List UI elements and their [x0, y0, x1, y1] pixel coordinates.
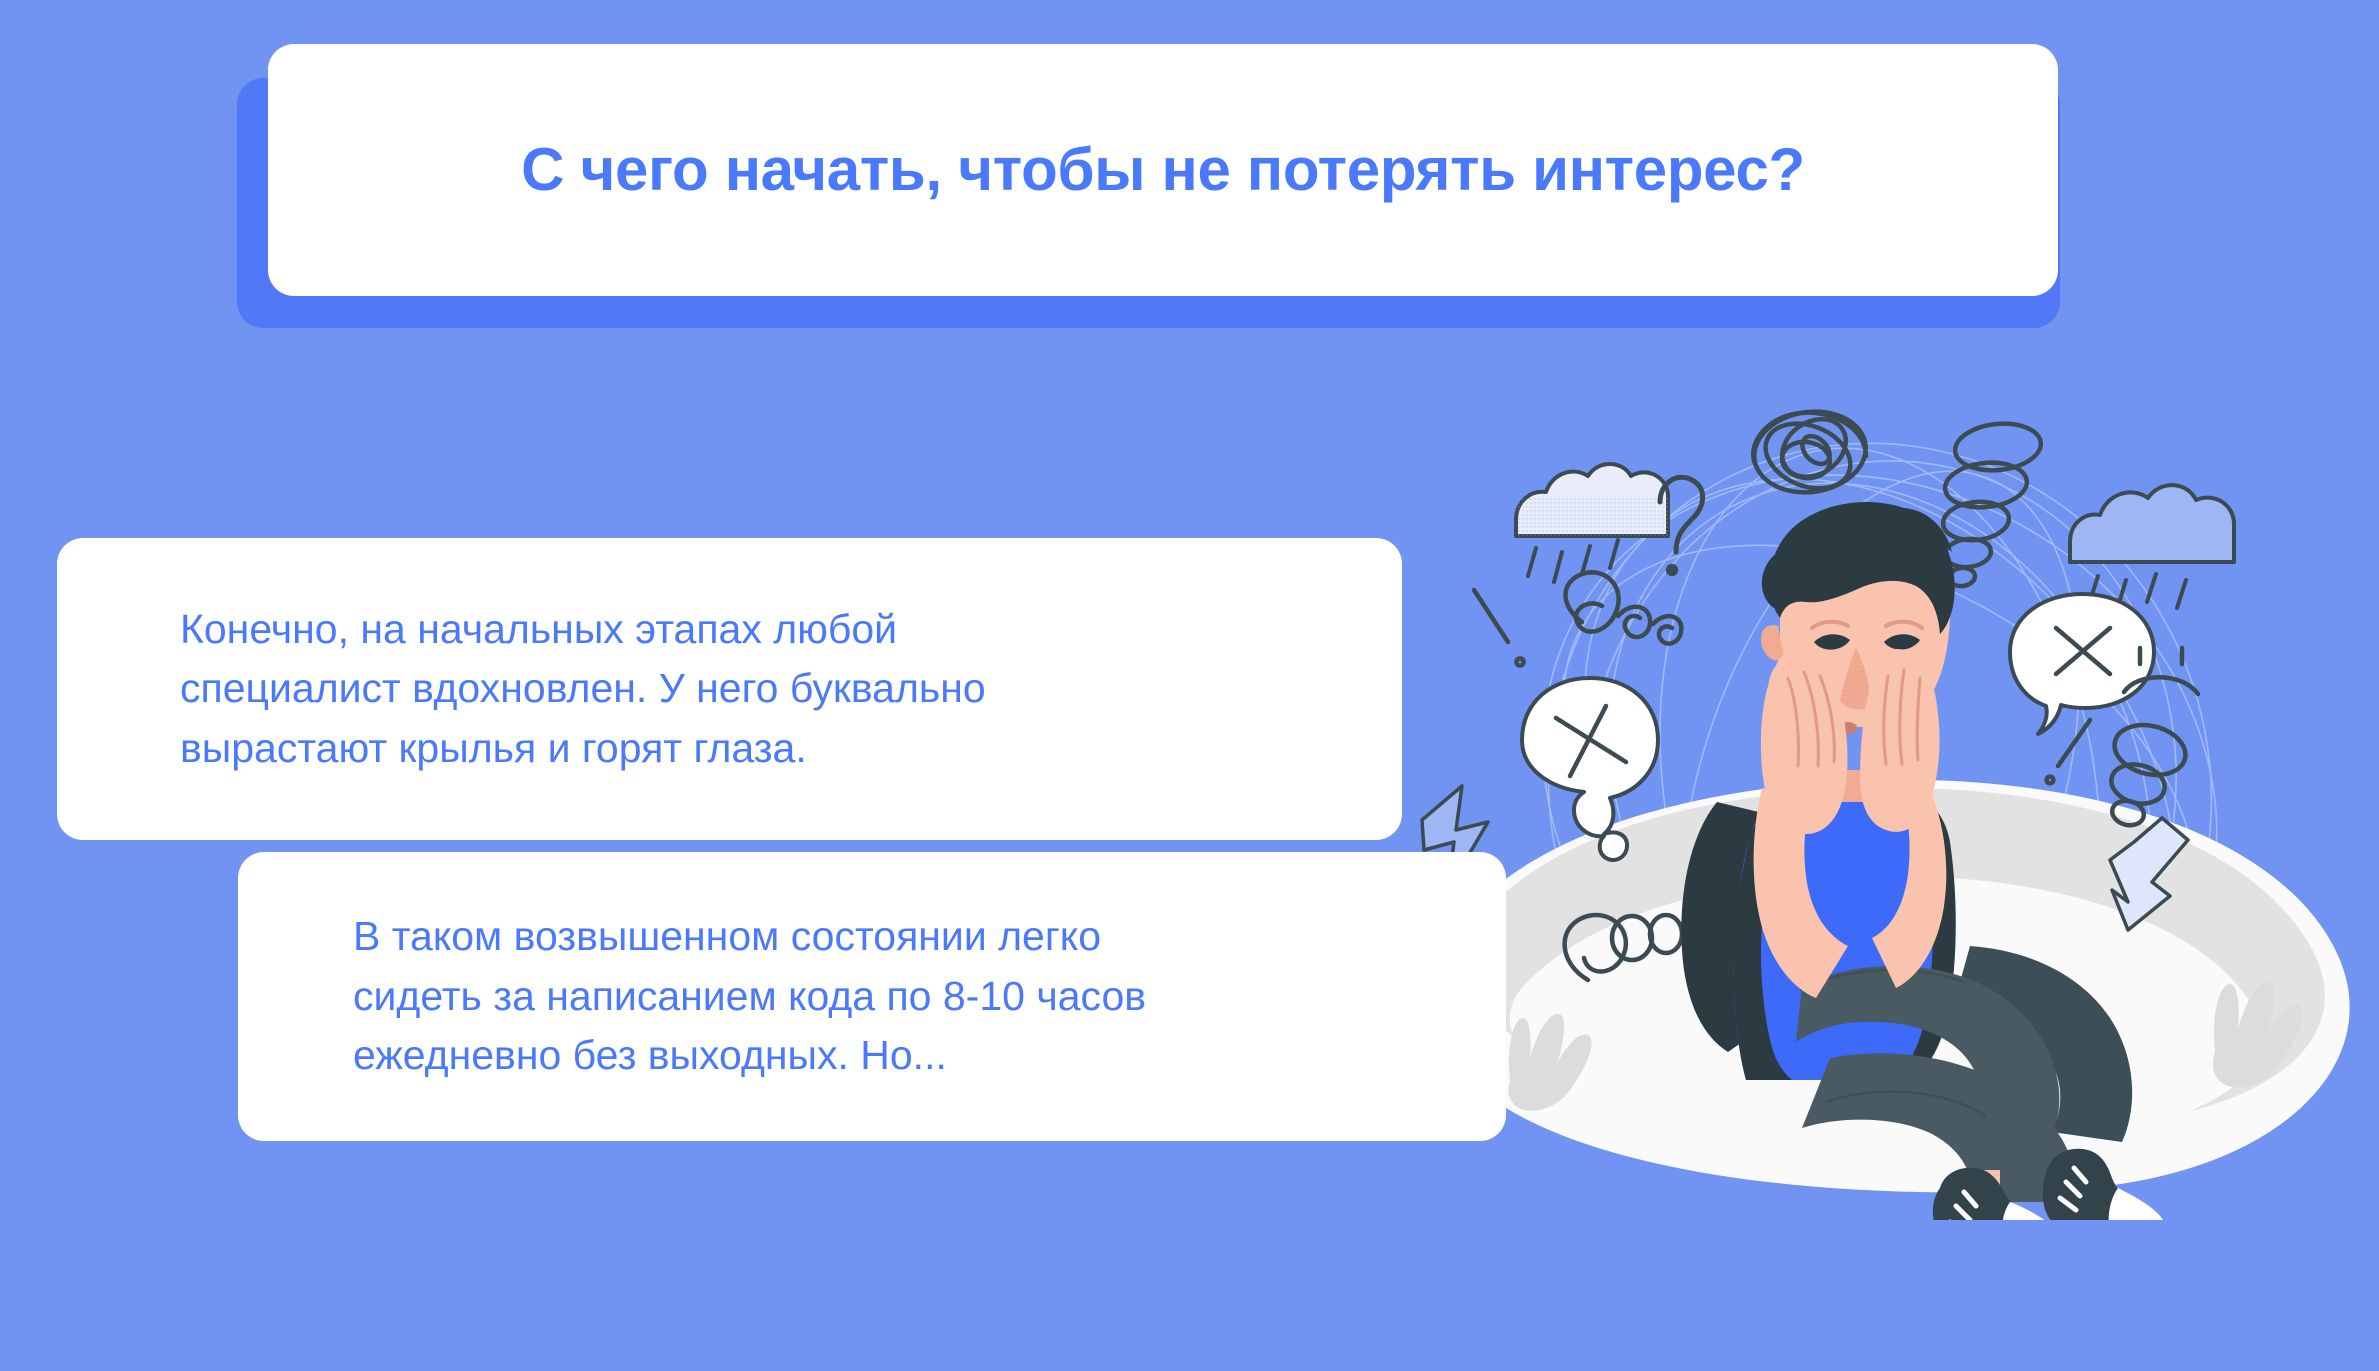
page-title: С чего начать, чтобы не потерять интерес…	[521, 137, 1805, 203]
stressed-person-illustration	[1410, 390, 2379, 1220]
person-figure	[1681, 502, 2166, 1220]
down-arrow-icon	[2110, 818, 2188, 930]
rain-cloud-blue-icon	[2070, 485, 2234, 610]
spiral-coil-icon	[1941, 420, 2043, 588]
speech-bubble-x-icon	[2010, 594, 2154, 734]
hand-right	[1860, 649, 1940, 832]
triple-spiral-icon	[1565, 915, 1696, 980]
sad-face-icon	[2124, 648, 2198, 694]
rain-cloud-light-icon	[1516, 464, 1668, 582]
body-card-1-text: Конечно, на начальных этапах любой специ…	[57, 600, 1034, 778]
title-card: С чего начать, чтобы не потерять интерес…	[268, 44, 2058, 296]
background-swirl-lines	[1424, 390, 2336, 1220]
body-card-2-text: В таком возвышенном состоянии легко сиде…	[238, 907, 1186, 1085]
slide-canvas: С чего начать, чтобы не потерять интерес…	[0, 0, 2379, 1371]
sneaker-right	[2043, 1149, 2166, 1220]
exclamation-stroke-small-icon	[2047, 720, 2090, 783]
sneaker-left	[1933, 1168, 2060, 1220]
ground-blob	[1426, 780, 2350, 1193]
question-mark-icon	[1660, 477, 1703, 573]
body-card-1: Конечно, на начальных этапах любой специ…	[57, 538, 1402, 840]
loop-scribble-icon	[1566, 572, 1682, 643]
thought-bubble-x-icon	[1522, 678, 1658, 860]
body-card-2: В таком возвышенном состоянии легко сиде…	[238, 852, 1506, 1141]
spiral-coil-lower-icon	[2107, 718, 2191, 829]
scribble-ball-icon	[1749, 405, 1871, 501]
exclamation-stroke-icon	[1474, 590, 1524, 666]
hand-left	[1761, 650, 1848, 834]
